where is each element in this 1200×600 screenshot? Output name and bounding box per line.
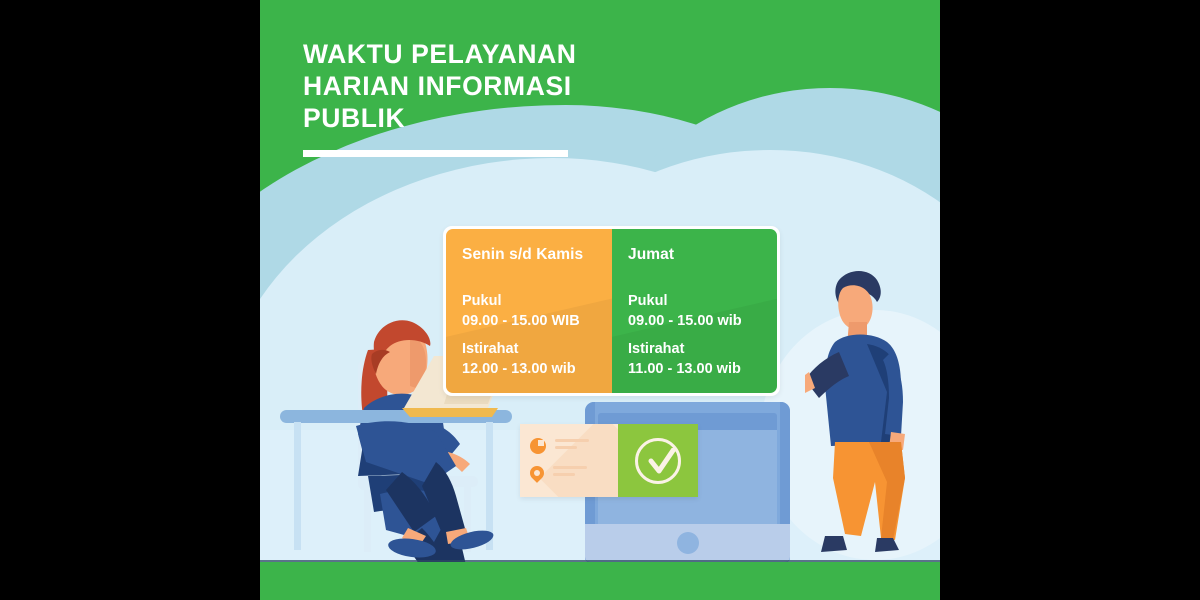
check-circle-icon [635,438,681,484]
check-mark-icon [647,448,677,478]
card-body-jumat: Pukul 09.00 - 15.00 wib Istirahat 11.00 … [628,292,777,379]
break-label-senin-kamis: Istirahat [462,340,612,359]
break-group-senin-kamis: Istirahat 12.00 - 13.00 wib [462,340,612,379]
man-figure [805,260,940,565]
letterbox-left [0,0,260,600]
woman-lower-legs [350,420,530,560]
title-line-1: WAKTU PELAYANAN [303,38,633,70]
hours-label-senin-kamis: Pukul [462,292,612,311]
title-underline [303,150,568,157]
page-title: WAKTU PELAYANAN HARIAN INFORMASI PUBLIK [303,38,633,157]
info-row-location-lines [553,466,587,480]
hours-value-jumat: 09.00 - 15.00 wib [628,311,777,331]
schedule-card-senin-kamis[interactable]: Senin s/d Kamis Pukul 09.00 - 15.00 WIB … [446,229,612,393]
info-card [520,424,698,497]
info-row-time-lines [555,439,589,453]
break-label-jumat: Istirahat [628,340,777,359]
schedule-cards: Senin s/d Kamis Pukul 09.00 - 15.00 WIB … [443,226,780,396]
info-card-check-panel [618,424,698,497]
title-line-3: PUBLIK [303,102,633,134]
info-row-time [530,438,589,454]
card-body-senin-kamis: Pukul 09.00 - 15.00 WIB Istirahat 12.00 … [462,292,612,379]
hours-label-jumat: Pukul [628,292,777,311]
location-pin-icon [527,463,547,483]
info-row-location [530,466,587,480]
break-value-senin-kamis: 12.00 - 13.00 wib [462,359,612,379]
poster-canvas: WAKTU PELAYANAN HARIAN INFORMASI PUBLIK [260,0,940,600]
card-header-jumat: Jumat [628,246,777,264]
tablet-home-button [677,532,699,554]
card-header-senin-kamis: Senin s/d Kamis [462,246,612,264]
letterbox-right [940,0,1200,600]
poster-stage: WAKTU PELAYANAN HARIAN INFORMASI PUBLIK [0,0,1200,600]
schedule-card-jumat[interactable]: Jumat Pukul 09.00 - 15.00 wib Istirahat … [612,229,777,393]
info-card-corner-shade [539,424,618,497]
bottom-green-strip [260,562,940,600]
title-line-2: HARIAN INFORMASI [303,70,633,102]
break-group-jumat: Istirahat 11.00 - 13.00 wib [628,340,777,379]
info-card-text-panel [520,424,618,497]
clock-icon [530,438,546,454]
desk-leg-left [294,422,301,550]
break-value-jumat: 11.00 - 13.00 wib [628,359,777,379]
hours-value-senin-kamis: 09.00 - 15.00 WIB [462,311,612,331]
